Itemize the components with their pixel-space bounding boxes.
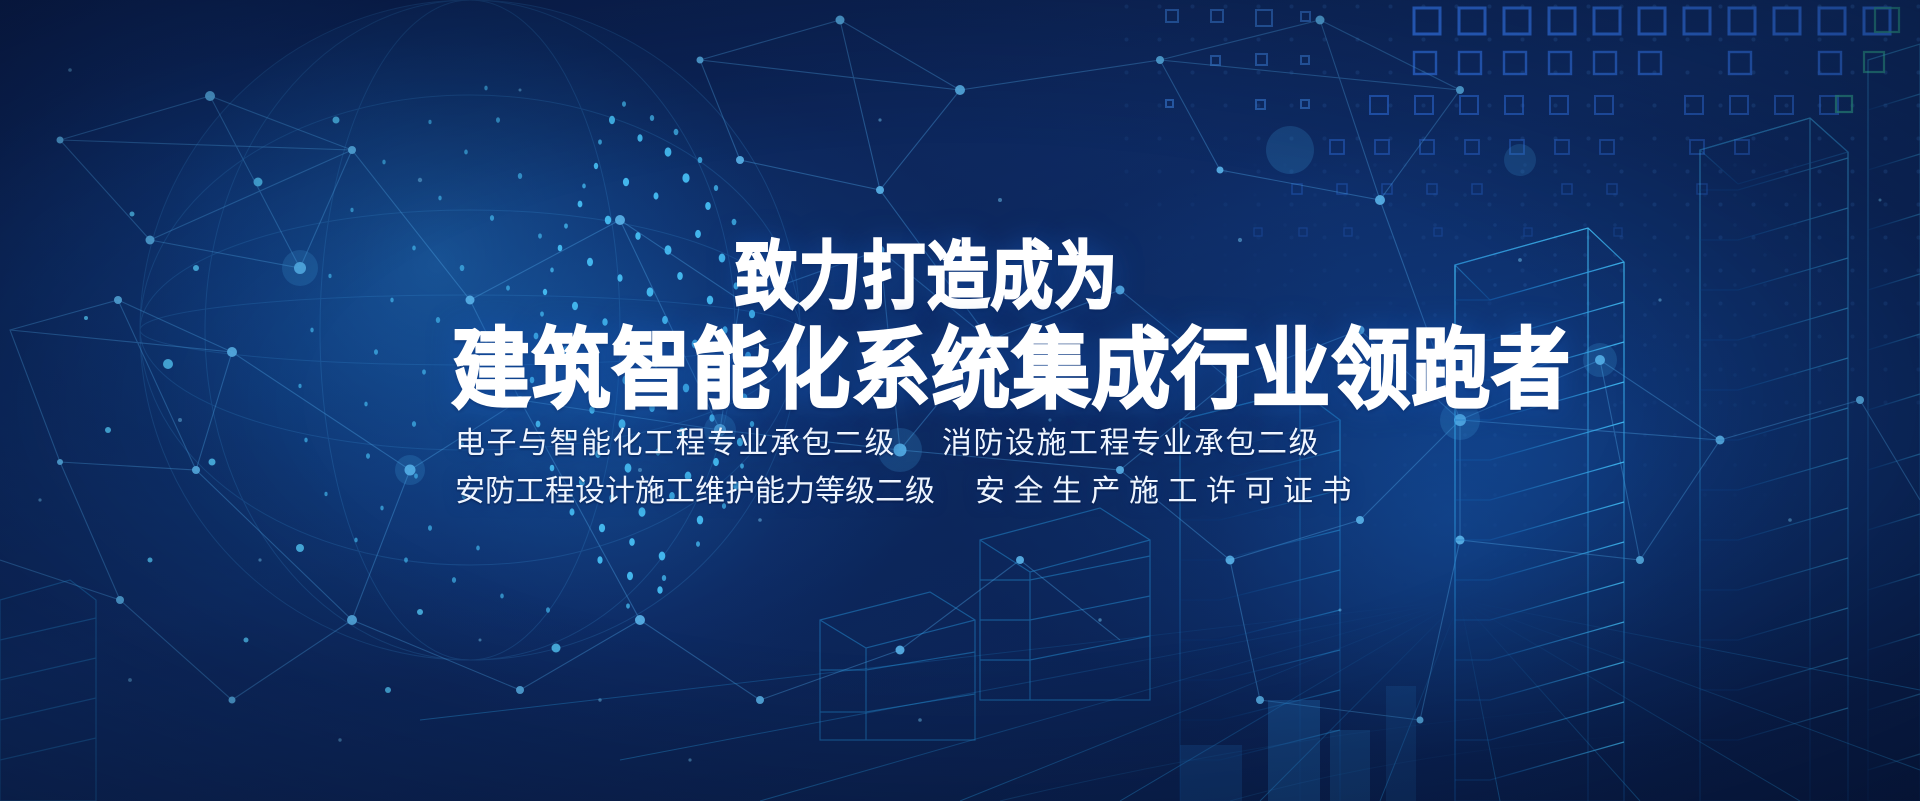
subtitle-row-1-left: 电子与智能化工程专业承包二级 [455, 418, 896, 462]
subtitle-row-2-left: 安防工程设计施工维护能力等级二级 [455, 466, 935, 510]
subtitle-row-2-right: 安全生产施工许可证书 [975, 466, 1360, 510]
headline-line-2: 建筑智能化系统集成行业领跑者 [452, 327, 1572, 414]
subtitle-row-1-right: 消防设施工程专业承包二级 [942, 418, 1320, 462]
subtitle-row-2: 安防工程设计施工维护能力等级二级 安全生产施工许可证书 [455, 466, 1360, 510]
hero-banner: 致力打造成为 建筑智能化系统集成行业领跑者 电子与智能化工程专业承包二级 消防设… [0, 0, 1920, 801]
banner-copy: 致力打造成为 建筑智能化系统集成行业领跑者 电子与智能化工程专业承包二级 消防设… [0, 0, 1920, 801]
headline-line-1: 致力打造成为 [735, 240, 1119, 313]
subtitle-row-1: 电子与智能化工程专业承包二级 消防设施工程专业承包二级 [455, 418, 1320, 462]
